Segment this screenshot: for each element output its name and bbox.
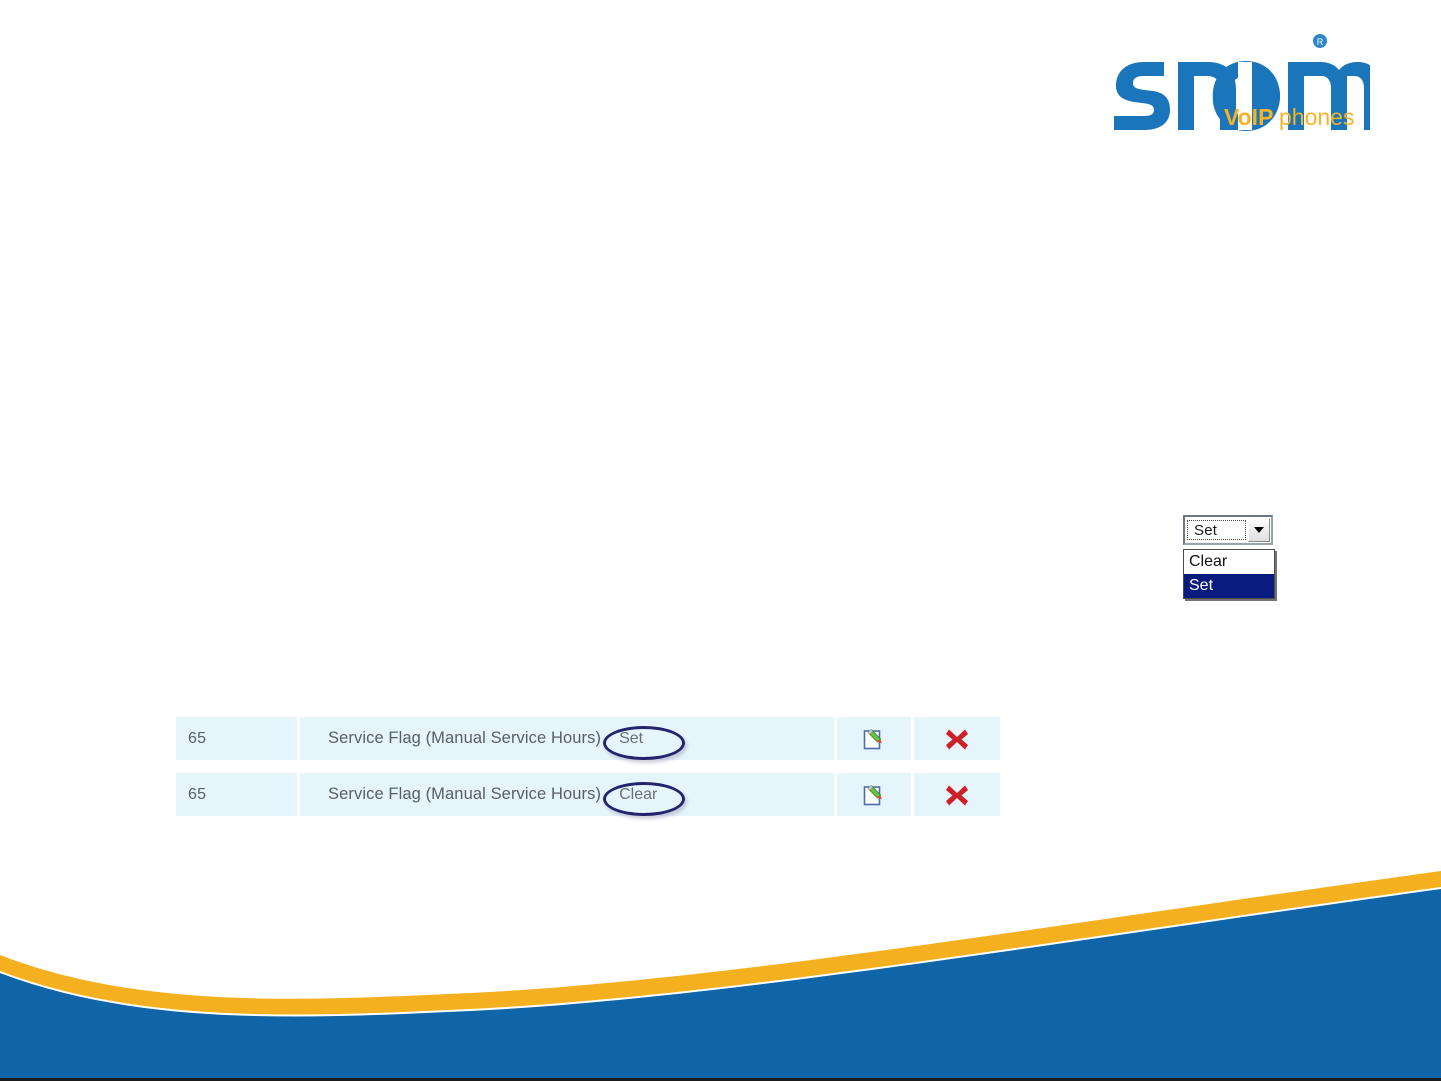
footer-wave-decoration	[0, 851, 1441, 1081]
edit-pencil-icon	[863, 728, 885, 750]
delete-button[interactable]	[914, 782, 1000, 808]
edit-button[interactable]	[837, 784, 911, 806]
logo-tagline-bold: VoIP	[1224, 104, 1273, 130]
cell-separator	[834, 717, 837, 760]
select-closed-box[interactable]: Set	[1183, 515, 1273, 545]
table-row[interactable]: 65 Service Flag (Manual Service Hours) S…	[176, 717, 1000, 760]
edit-button[interactable]	[837, 728, 911, 750]
chevron-down-icon[interactable]	[1248, 518, 1270, 542]
row-value: Set	[619, 730, 643, 747]
select-selected-value[interactable]: Set	[1187, 520, 1246, 540]
select-option-list[interactable]: Clear Set	[1183, 549, 1275, 599]
row-description: Service Flag (Manual Service Hours)	[300, 785, 601, 804]
delete-button[interactable]	[914, 726, 1000, 752]
snom-logo: R VoIP phones snom VoIP phones	[1108, 26, 1370, 131]
cell-separator	[911, 717, 914, 760]
table-row[interactable]: 65 Service Flag (Manual Service Hours) C…	[176, 773, 1000, 816]
row-value-cell: Set	[601, 730, 721, 748]
row-id: 65	[176, 730, 297, 748]
row-value-cell: Clear	[601, 786, 721, 804]
cell-separator	[911, 773, 914, 816]
logo-tagline-light: phones	[1279, 104, 1354, 130]
delete-x-icon	[944, 782, 970, 808]
select-option-clear[interactable]: Clear	[1184, 550, 1274, 574]
annotation-ellipse	[603, 726, 685, 760]
delete-x-icon	[944, 726, 970, 752]
edit-pencil-icon	[863, 784, 885, 806]
service-flag-dropdown[interactable]: Set Clear Set	[1183, 515, 1277, 599]
row-value: Clear	[619, 786, 657, 803]
slide-canvas: R VoIP phones snom VoIP phones Set Clear…	[0, 0, 1441, 1081]
select-option-set[interactable]: Set	[1184, 574, 1274, 598]
svg-text:R: R	[1317, 37, 1324, 47]
row-description: Service Flag (Manual Service Hours)	[300, 729, 601, 748]
cell-separator	[834, 773, 837, 816]
chevron-down-glyph	[1254, 527, 1264, 533]
service-flag-table: 65 Service Flag (Manual Service Hours) S…	[176, 717, 1000, 816]
row-id: 65	[176, 786, 297, 804]
